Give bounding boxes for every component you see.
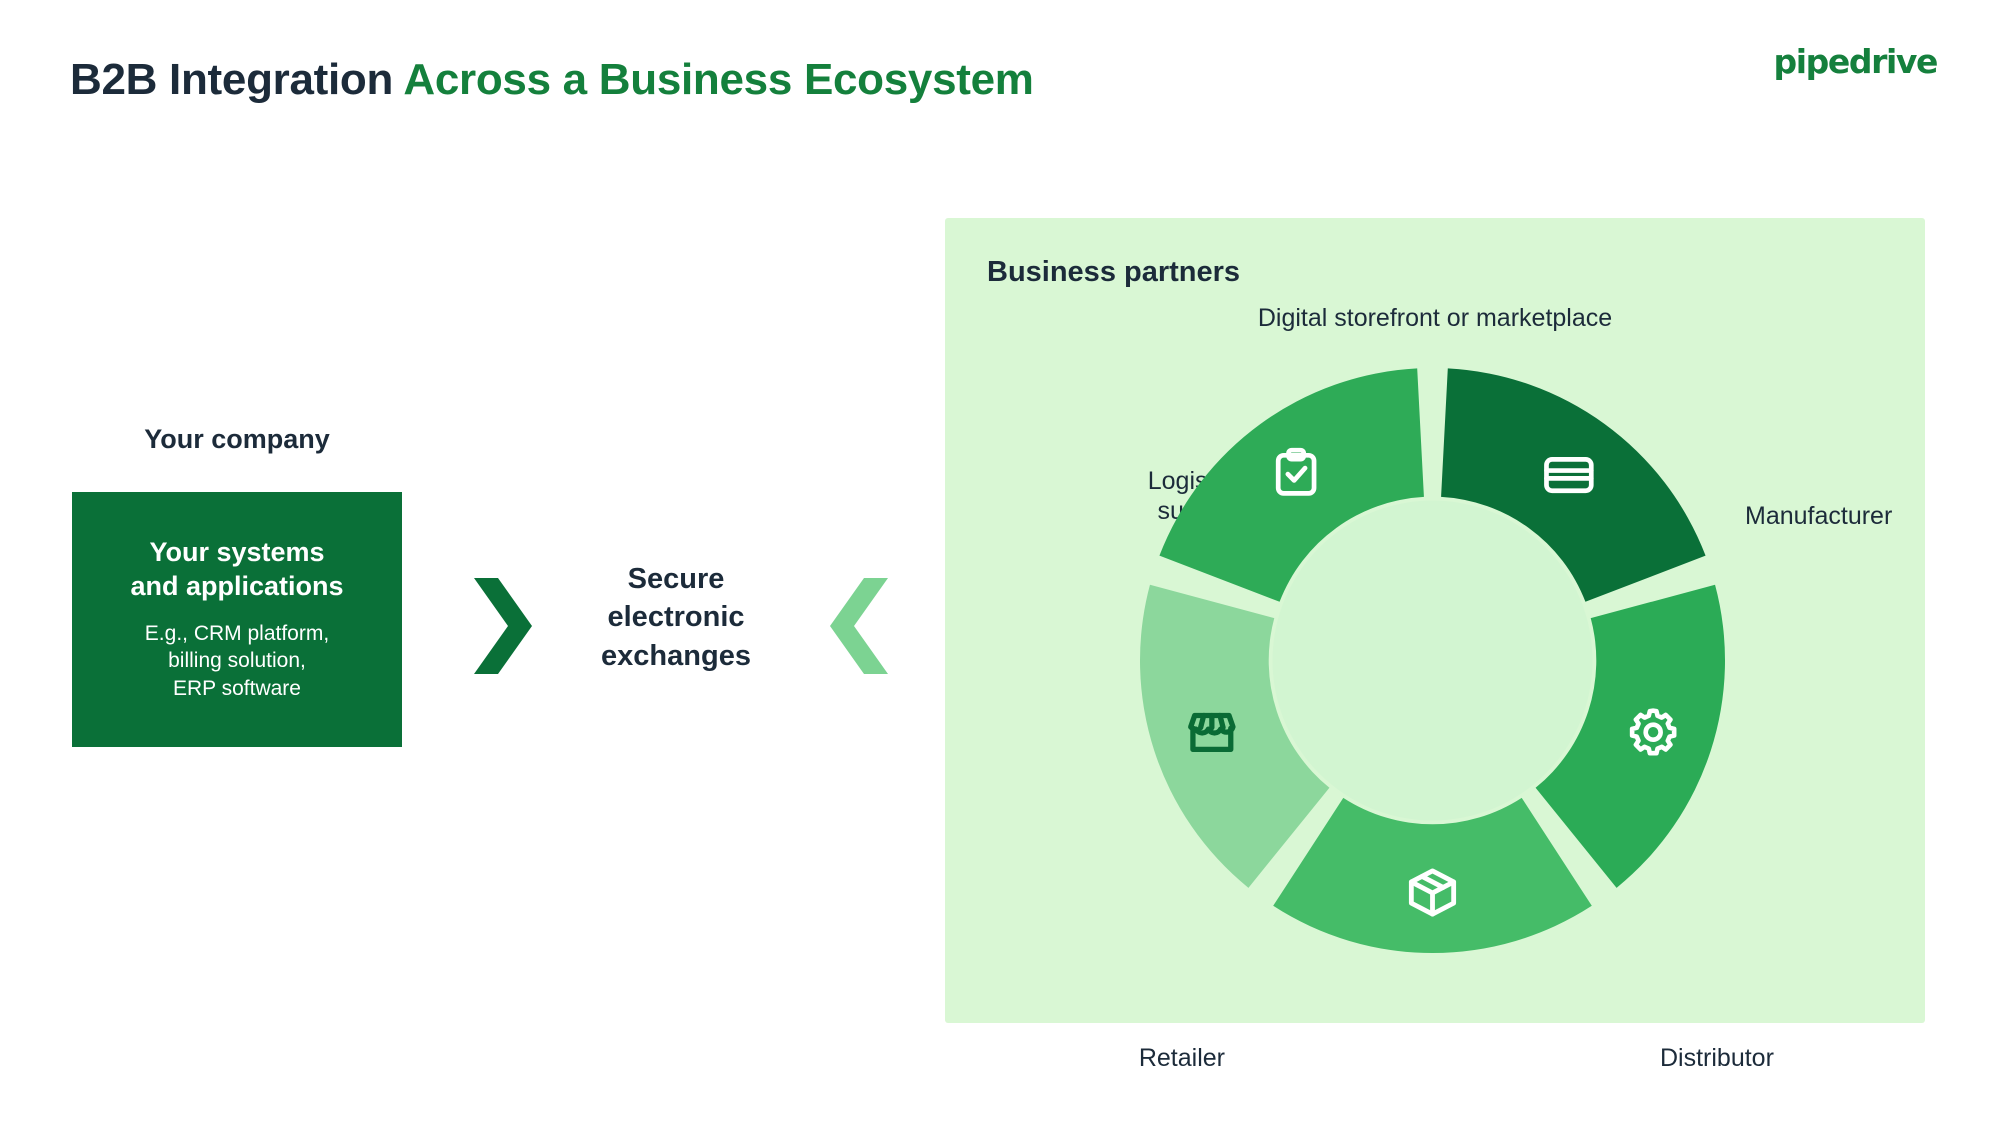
your-systems-card-title: Your systems and applications [130, 536, 343, 604]
chevron-left-icon [826, 576, 892, 676]
your-systems-card: Your systems and applications E.g., CRM … [72, 492, 402, 747]
chevron-right-icon [470, 576, 536, 676]
your-company-label: Your company [72, 424, 402, 455]
secure-exchanges-label: Secure electronic exchanges [560, 560, 792, 675]
page-title-part-2: Across a Business Ecosystem [403, 55, 1033, 104]
segment-label-distributor: Distributor [1660, 1043, 1910, 1073]
page-title: B2B Integration Across a Business Ecosys… [70, 55, 1034, 105]
segment-label-storefront: Digital storefront or marketplace [945, 303, 1925, 333]
donut-segment-package-box [1273, 798, 1592, 953]
business-partners-panel: Business partners Digital storefront or … [945, 218, 1925, 1023]
business-partners-title: Business partners [987, 256, 1240, 289]
your-systems-card-subtitle: E.g., CRM platform, billing solution, ER… [145, 620, 329, 703]
pipedrive-logo: pipedrive [1774, 42, 1937, 81]
infographic-page: B2B Integration Across a Business Ecosys… [0, 0, 1999, 1125]
page-title-part-1: B2B Integration [70, 55, 403, 104]
segment-label-manufacturer: Manufacturer [1745, 501, 1995, 531]
segment-label-retailer: Retailer [975, 1043, 1225, 1073]
partners-donut-chart [1140, 368, 1725, 953]
